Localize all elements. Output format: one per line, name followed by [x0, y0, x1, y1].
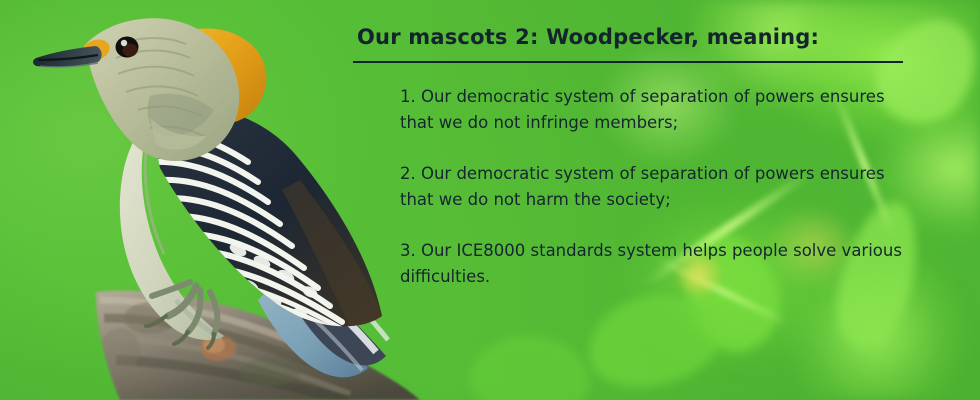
mascot-meaning-list: 1. Our democratic system of separation o…: [353, 84, 913, 290]
text-panel: Our mascots 2: Woodpecker, meaning: 1. O…: [353, 22, 913, 290]
page-title: Our mascots 2: Woodpecker, meaning:: [353, 22, 913, 52]
list-item: 3. Our ICE8000 standards system helps pe…: [400, 238, 913, 290]
mascot-banner: Our mascots 2: Woodpecker, meaning: 1. O…: [0, 0, 980, 400]
list-item: 1. Our democratic system of separation o…: [400, 84, 913, 136]
title-divider: [353, 61, 903, 63]
list-item: 2. Our democratic system of separation o…: [400, 161, 913, 213]
